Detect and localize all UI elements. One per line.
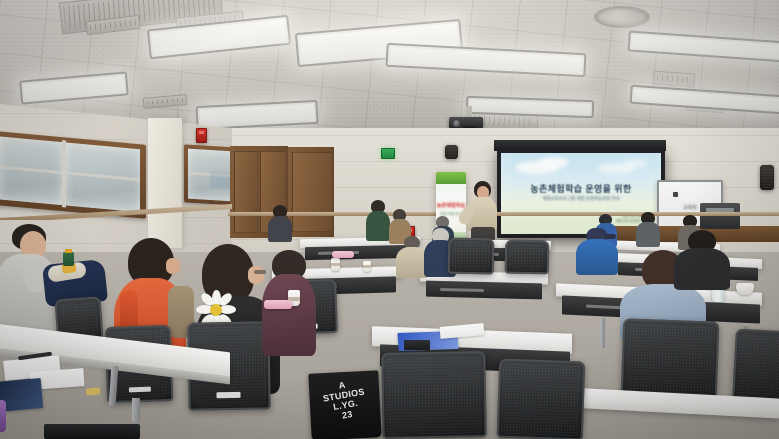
- wall-speaker: [760, 165, 774, 190]
- attendee: [366, 200, 390, 240]
- eraser: [86, 387, 101, 395]
- pencil-case: [264, 300, 292, 309]
- exit-sign: [381, 148, 395, 159]
- paper-cup: [331, 258, 340, 271]
- laptop-or-case: [44, 424, 140, 439]
- chair: [381, 351, 486, 439]
- tote-bag-text: A STUDIOS L.YG. 23: [308, 374, 381, 426]
- slide-subtitle: 체험교육프로그램 개발·운영학습과정 안내: [501, 196, 661, 202]
- desk-modesty-panel: [426, 281, 542, 300]
- fire-alarm-box: [196, 128, 207, 143]
- purple-bottle: [0, 400, 6, 432]
- attendee: [636, 212, 660, 246]
- thermos: [63, 252, 74, 266]
- attendee: [268, 205, 292, 241]
- wall-speaker: [445, 145, 458, 159]
- chair: [448, 238, 495, 275]
- chair: [497, 359, 586, 439]
- slide-title: 농촌체험학습 운영을 위한: [501, 182, 661, 195]
- classroom-photo: 농촌체험학습 운영을 위한 체험교육프로그램 개발·운영학습과정 안내 충남 농…: [0, 0, 779, 439]
- whiteboard-magnet: [673, 192, 678, 197]
- attendee: [576, 228, 618, 274]
- banner-title: 농촌체험학습: [436, 202, 466, 209]
- pencil-case: [332, 251, 354, 258]
- attendee: [674, 230, 730, 286]
- banner-header: [436, 172, 466, 184]
- chair: [621, 318, 720, 401]
- chair: [505, 240, 550, 275]
- paper-cup: [363, 261, 371, 272]
- name-card: [404, 340, 430, 350]
- chair-post: [132, 398, 140, 422]
- chair: [732, 329, 779, 406]
- tote-bag: A STUDIOS L.YG. 23: [308, 370, 381, 439]
- dark-folder: [0, 378, 43, 412]
